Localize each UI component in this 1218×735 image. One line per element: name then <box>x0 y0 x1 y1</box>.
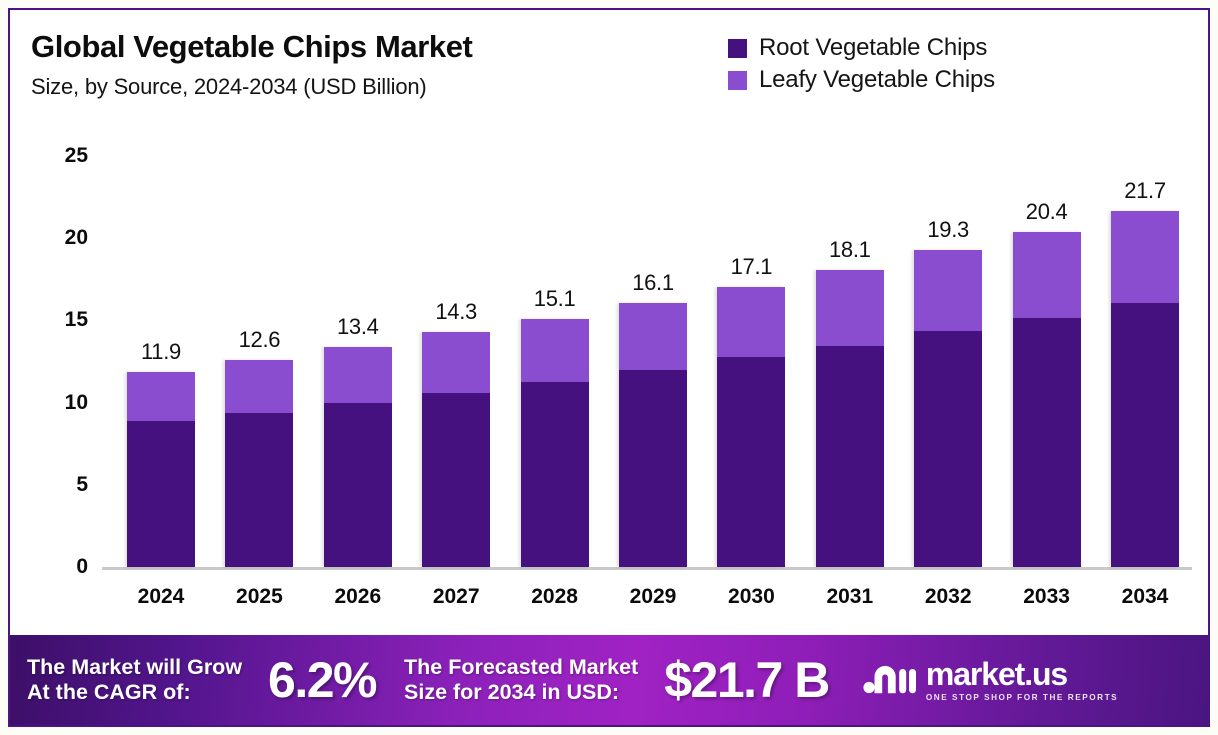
x-axis-label: 2027 <box>433 585 480 609</box>
chart-card: Global Vegetable Chips Market Size, by S… <box>8 8 1210 727</box>
cagr-caption-line2: At the CAGR of: <box>27 680 242 705</box>
bar-segment-leafy-vegetable-chips[interactable] <box>225 360 293 412</box>
bar-segment-leafy-vegetable-chips[interactable] <box>521 319 589 381</box>
chart-plot-area: 25 20 15 10 5 0 11.9202412.6202513.42026… <box>10 116 1208 620</box>
bar-segment-leafy-vegetable-chips[interactable] <box>1013 232 1081 317</box>
x-axis-label: 2033 <box>1023 585 1070 609</box>
bar-segment-root-vegetable-chips[interactable] <box>225 413 293 567</box>
bar-segment-root-vegetable-chips[interactable] <box>127 421 195 567</box>
bar-segment-leafy-vegetable-chips[interactable] <box>422 332 490 393</box>
cagr-value: 6.2% <box>268 651 376 709</box>
page-title: Global Vegetable Chips Market <box>31 29 472 65</box>
stacked-bar[interactable] <box>422 332 490 567</box>
legend-item-root-vegetable-chips[interactable]: Root Vegetable Chips <box>728 32 995 64</box>
bar-segment-root-vegetable-chips[interactable] <box>717 357 785 567</box>
y-tick-10: 10 <box>32 391 88 415</box>
market-us-logo-icon <box>863 660 917 701</box>
x-axis-line <box>102 567 1192 570</box>
bar-group[interactable]: 18.12031 <box>816 270 884 567</box>
legend-item-leafy-vegetable-chips[interactable]: Leafy Vegetable Chips <box>728 64 995 96</box>
chart-subtitle: Size, by Source, 2024-2034 (USD Billion) <box>31 74 427 100</box>
bar-segment-root-vegetable-chips[interactable] <box>619 370 687 567</box>
bar-segment-leafy-vegetable-chips[interactable] <box>619 303 687 370</box>
bar-value-label: 12.6 <box>239 327 281 353</box>
stacked-bar[interactable] <box>619 303 687 567</box>
logo-tagline: ONE STOP SHOP FOR THE REPORTS <box>926 693 1118 702</box>
bar-segment-leafy-vegetable-chips[interactable] <box>914 250 982 330</box>
bar-group[interactable]: 20.42033 <box>1013 232 1081 567</box>
bar-group[interactable]: 19.32032 <box>914 250 982 567</box>
y-tick-0: 0 <box>32 555 88 579</box>
bar-segment-leafy-vegetable-chips[interactable] <box>1111 211 1179 303</box>
bar-group[interactable]: 13.42026 <box>324 347 392 567</box>
chart-header: Global Vegetable Chips Market Size, by S… <box>10 10 1208 116</box>
bar-value-label: 16.1 <box>632 270 674 296</box>
legend-swatch-root-vegetable-chips <box>728 39 747 58</box>
stacked-bar[interactable] <box>1111 211 1179 567</box>
bar-group[interactable]: 16.12029 <box>619 303 687 567</box>
bar-segment-root-vegetable-chips[interactable] <box>816 346 884 567</box>
legend-swatch-leafy-vegetable-chips <box>728 71 747 90</box>
bar-segment-leafy-vegetable-chips[interactable] <box>816 270 884 345</box>
stacked-bar[interactable] <box>324 347 392 567</box>
x-axis-label: 2031 <box>826 585 873 609</box>
summary-banner: The Market will Grow At the CAGR of: 6.2… <box>10 635 1208 725</box>
bar-group[interactable]: 12.62025 <box>225 360 293 567</box>
bar-value-label: 19.3 <box>927 217 969 243</box>
bar-segment-root-vegetable-chips[interactable] <box>521 382 589 567</box>
bar-segment-leafy-vegetable-chips[interactable] <box>324 347 392 403</box>
legend-label-root-vegetable-chips: Root Vegetable Chips <box>759 34 987 62</box>
stacked-bar[interactable] <box>225 360 293 567</box>
stacked-bar[interactable] <box>521 319 589 567</box>
bar-segment-root-vegetable-chips[interactable] <box>914 331 982 567</box>
y-tick-25: 25 <box>32 144 88 168</box>
cagr-caption-line1: The Market will Grow <box>27 655 242 680</box>
bar-value-label: 17.1 <box>731 254 773 280</box>
x-axis-label: 2029 <box>630 585 677 609</box>
x-axis-label: 2024 <box>138 585 185 609</box>
bar-value-label: 11.9 <box>141 339 181 365</box>
bar-group[interactable]: 14.32027 <box>422 332 490 567</box>
logo-wordmark: market.us <box>926 656 1067 692</box>
bar-value-label: 14.3 <box>435 299 477 325</box>
y-tick-20: 20 <box>32 226 88 250</box>
bar-group[interactable]: 11.92024 <box>127 372 195 567</box>
x-axis-label: 2026 <box>334 585 381 609</box>
bar-value-label: 15.1 <box>534 286 576 312</box>
bar-value-label: 20.4 <box>1026 199 1068 225</box>
forecast-caption: The Forecasted Market Size for 2034 in U… <box>404 655 638 706</box>
bar-value-label: 13.4 <box>337 314 379 340</box>
bar-group[interactable]: 17.12030 <box>717 287 785 567</box>
bar-segment-leafy-vegetable-chips[interactable] <box>717 287 785 358</box>
x-axis-label: 2032 <box>925 585 972 609</box>
bar-segment-root-vegetable-chips[interactable] <box>1013 318 1081 567</box>
x-axis-label: 2030 <box>728 585 775 609</box>
market-us-logo[interactable]: market.us ONE STOP SHOP FOR THE REPORTS <box>863 658 1118 702</box>
forecast-caption-line2: Size for 2034 in USD: <box>404 680 638 705</box>
chart-legend: Root Vegetable Chips Leafy Vegetable Chi… <box>728 32 995 96</box>
stacked-bar[interactable] <box>914 250 982 567</box>
stacked-bar[interactable] <box>127 372 195 567</box>
bar-segment-root-vegetable-chips[interactable] <box>324 403 392 567</box>
x-axis-label: 2028 <box>531 585 578 609</box>
x-axis-label: 2025 <box>236 585 283 609</box>
bar-segment-leafy-vegetable-chips[interactable] <box>127 372 195 421</box>
bar-segment-root-vegetable-chips[interactable] <box>422 393 490 567</box>
bar-value-label: 21.7 <box>1124 178 1166 204</box>
forecast-value: $21.7 B <box>664 651 829 709</box>
bar-segment-root-vegetable-chips[interactable] <box>1111 303 1179 567</box>
bar-group[interactable]: 21.72034 <box>1111 211 1179 567</box>
legend-label-leafy-vegetable-chips: Leafy Vegetable Chips <box>759 66 995 94</box>
stacked-bar[interactable] <box>816 270 884 567</box>
bar-group[interactable]: 15.12028 <box>521 319 589 567</box>
forecast-caption-line1: The Forecasted Market <box>404 655 638 680</box>
market-us-logo-text: market.us ONE STOP SHOP FOR THE REPORTS <box>926 658 1118 702</box>
stacked-bar[interactable] <box>717 287 785 567</box>
stacked-bar[interactable] <box>1013 232 1081 567</box>
x-axis-label: 2034 <box>1122 585 1169 609</box>
y-tick-15: 15 <box>32 308 88 332</box>
bar-value-label: 18.1 <box>829 237 871 263</box>
y-tick-5: 5 <box>32 473 88 497</box>
cagr-caption: The Market will Grow At the CAGR of: <box>27 655 242 706</box>
